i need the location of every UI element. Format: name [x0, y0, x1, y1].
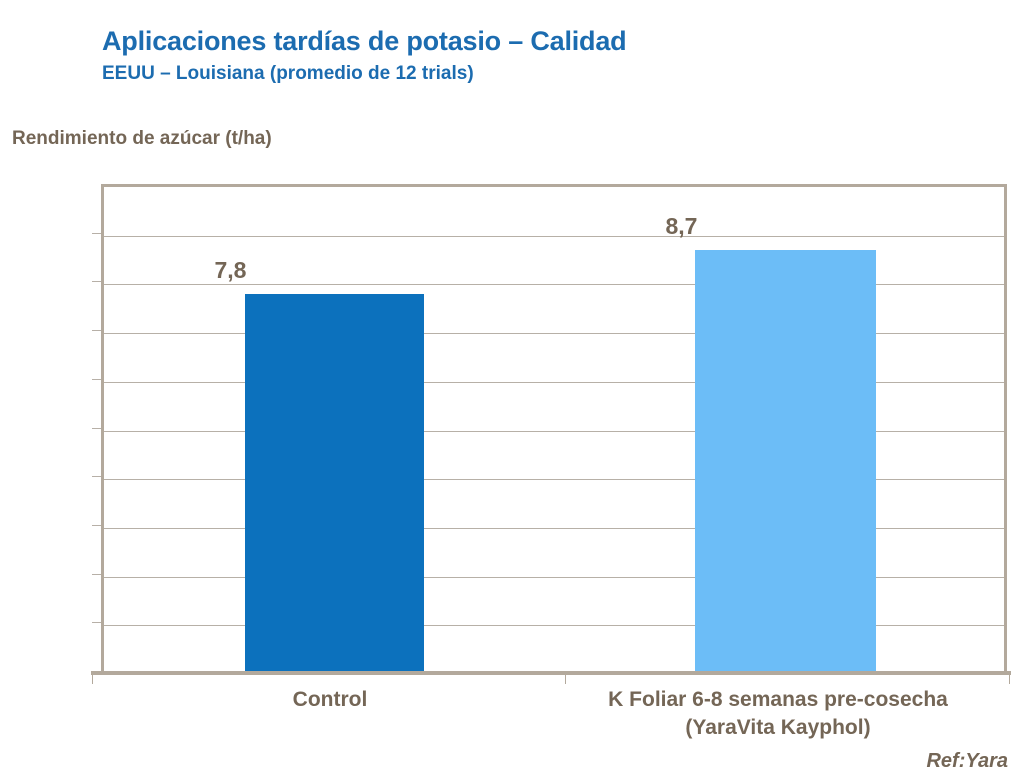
slide-canvas: { "header": { "title": "Aplicaciones tar…	[0, 0, 1020, 779]
y-axis-tick	[92, 233, 101, 234]
y-axis-tick	[92, 281, 101, 282]
x-axis-tick	[565, 675, 566, 684]
y-axis-tick	[92, 330, 101, 331]
x-axis-category-label-0: Control	[115, 686, 545, 714]
bar-1[interactable]	[695, 250, 876, 674]
x-axis-tick	[1009, 675, 1010, 684]
bar-0[interactable]	[245, 294, 424, 674]
x-axis-line	[91, 671, 1011, 675]
y-axis-tick	[92, 428, 101, 429]
y-axis-tick	[92, 622, 101, 623]
title-block: Aplicaciones tardías de potasio – Calida…	[102, 24, 982, 87]
y-axis-tick	[92, 476, 101, 477]
reference-note: Ref:Yara	[926, 750, 1008, 773]
bar-value-label-0: 7,8	[141, 257, 320, 284]
category-label-line: Control	[115, 686, 545, 714]
bar-value-label-1: 8,7	[591, 213, 772, 240]
category-label-line: K Foliar 6-8 semanas pre-cosecha	[553, 686, 1003, 714]
y-axis-tick	[92, 379, 101, 380]
y-axis-tick	[92, 525, 101, 526]
y-axis-tick	[92, 574, 101, 575]
gridline	[104, 236, 1004, 237]
x-axis-category-label-1: K Foliar 6-8 semanas pre-cosecha(YaraVit…	[553, 686, 1003, 742]
x-axis-tick	[92, 675, 93, 684]
category-label-line: (YaraVita Kayphol)	[553, 714, 1003, 742]
page-subtitle: EEUU – Louisiana (promedio de 12 trials)	[102, 61, 982, 87]
y-axis-label: Rendimiento de azúcar (t/ha)	[12, 128, 272, 150]
page-title: Aplicaciones tardías de potasio – Calida…	[102, 24, 982, 58]
